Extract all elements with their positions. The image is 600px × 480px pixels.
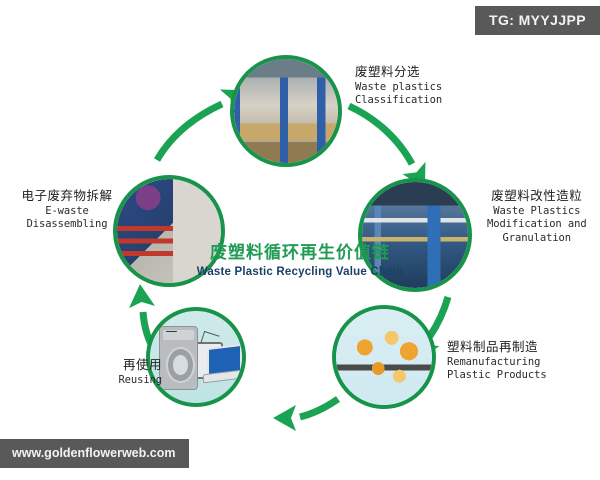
label-reusing-en-1: Reusing [22, 374, 162, 388]
center-title-cn: 废塑料循环再生价值链 [170, 238, 430, 263]
label-sorting-en-2: Classification [355, 94, 442, 108]
label-ewaste-cn: 电子废弃物拆解 [8, 188, 126, 205]
label-reusing-cn: 再使用 [22, 357, 162, 374]
watermark-badge: www.goldenflowerweb.com [0, 439, 189, 469]
label-reusing: 再使用 Reusing [22, 357, 162, 387]
photo-robotic-assembly-line [336, 309, 432, 405]
washing-machine-icon [159, 326, 198, 391]
center-title-en: Waste Plastic Recycling Value Chain [170, 266, 430, 278]
arrowhead-remanufacturing-to-reusing [273, 405, 296, 431]
node-circle-sorting[interactable] [230, 55, 342, 167]
label-remanufacturing: 塑料制品再制造 Remanufacturing Plastic Products [447, 339, 547, 383]
arrowhead-reusing-to-ewaste [127, 283, 155, 308]
label-granulation-cn: 废塑料改性造粒 [487, 188, 587, 205]
node-circle-remanufacturing[interactable] [332, 305, 436, 409]
label-ewaste: 电子废弃物拆解 E-waste Disassembling [8, 188, 126, 232]
label-sorting-cn: 废塑料分选 [355, 64, 442, 81]
label-remanufacturing-en-2: Plastic Products [447, 369, 547, 383]
arrow-path-remanufacturing-to-reusing [300, 399, 338, 417]
label-remanufacturing-en-1: Remanufacturing [447, 356, 547, 370]
photo-appliances-washer-tv-laptop [150, 311, 242, 403]
photo-industrial-sorting-plant [234, 59, 338, 163]
label-granulation-en-2: Modification and [487, 218, 587, 232]
arrow-path-sorting-to-granulation [349, 106, 412, 164]
label-sorting-en-1: Waste plastics [355, 81, 442, 95]
label-remanufacturing-cn: 塑料制品再制造 [447, 339, 547, 356]
center-title: 废塑料循环再生价值链 Waste Plastic Recycling Value… [170, 238, 430, 278]
label-ewaste-en-2: Disassembling [8, 218, 126, 232]
arrow-path-ewaste-to-sorting [157, 104, 222, 160]
label-granulation-en-3: Granulation [487, 232, 587, 246]
label-granulation-en-1: Waste Plastics [487, 205, 587, 219]
infographic-canvas: 废塑料分选 Waste plastics Classification 废塑料改… [0, 0, 600, 480]
arrow-path-granulation-to-remanufacturing [430, 297, 448, 336]
label-ewaste-en-1: E-waste [8, 205, 126, 219]
label-granulation: 废塑料改性造粒 Waste Plastics Modification and … [487, 188, 587, 246]
telegram-badge: TG: MYYJJPP [475, 6, 600, 35]
label-sorting: 废塑料分选 Waste plastics Classification [355, 64, 442, 108]
